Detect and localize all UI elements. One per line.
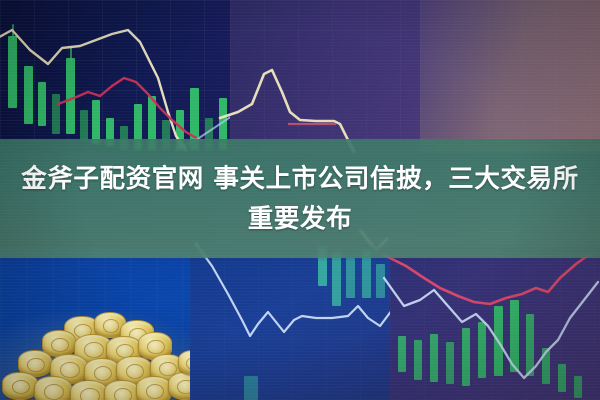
trend-lines-bottom-middle [190, 248, 420, 400]
panel-top-right-mauve [420, 0, 600, 152]
trend-lines-bottom-right [390, 248, 600, 400]
gold-coin [70, 380, 108, 400]
panel-top-middle-indigo-chart [230, 0, 440, 152]
gold-coin-pile [2, 310, 212, 400]
news-banner-image: 金斧子配资官网 事关上市公司信披，三大交易所 重要发布 [0, 0, 600, 400]
panel-top-left-candlestick-chart [0, 0, 250, 152]
headline-title: 金斧子配资官网 事关上市公司信披，三大交易所 重要发布 [20, 159, 580, 239]
trend-lines-top-left [0, 0, 250, 152]
chart-grid [420, 0, 600, 152]
light-blue-trend-line [384, 278, 598, 378]
panel-bottom-middle-blue-chart [190, 248, 420, 400]
red-trend-line [58, 78, 200, 140]
gold-coin [136, 376, 172, 400]
gold-coin [34, 376, 72, 400]
trend-lines-top-middle [230, 0, 440, 152]
gold-coin [104, 380, 140, 400]
headline-overlay-band: 金斧子配资官网 事关上市公司信披，三大交易所 重要发布 [0, 139, 600, 258]
panel-bottom-right-violet-chart [390, 248, 600, 400]
cream-trend-line [0, 30, 186, 150]
gold-coin [2, 372, 38, 400]
